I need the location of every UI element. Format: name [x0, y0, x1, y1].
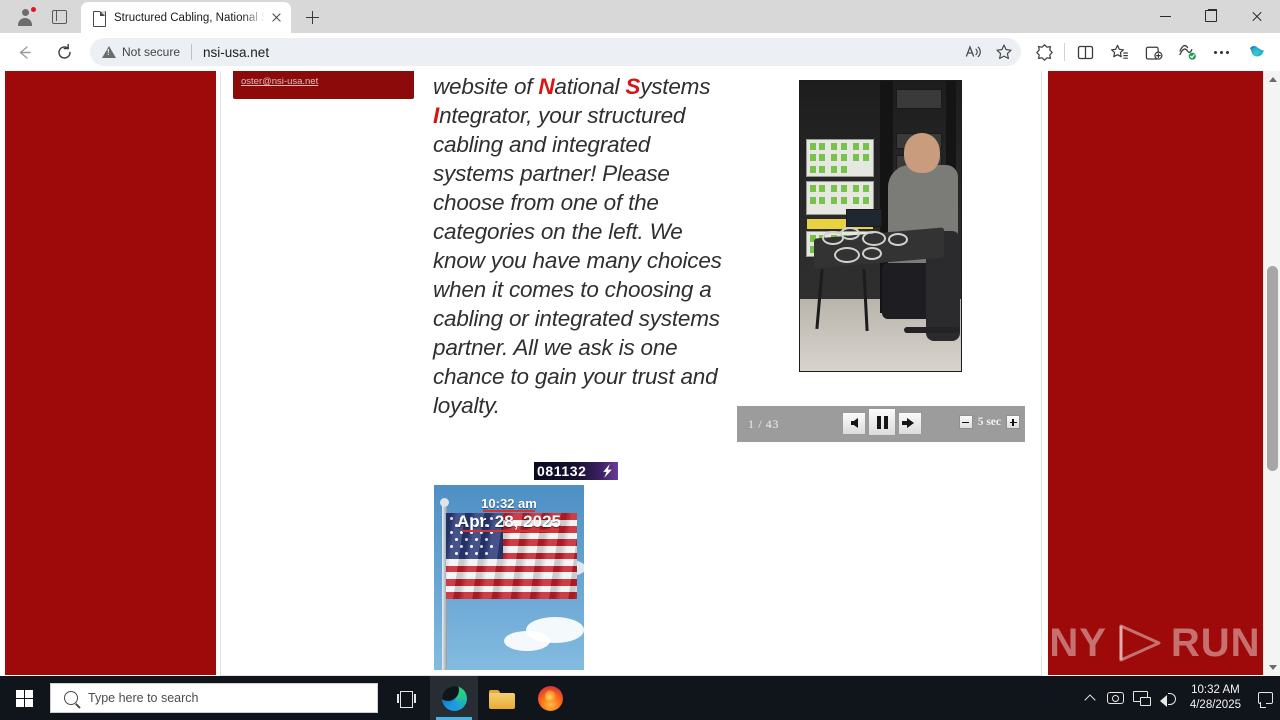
- show-hidden-icons-button[interactable]: [1077, 676, 1103, 720]
- slideshow-speed-control: 5 sec: [959, 415, 1020, 429]
- system-tray: 10:32 AM 4/28/2025: [1077, 676, 1280, 720]
- camera-tray-button[interactable]: [1103, 676, 1129, 720]
- slideshow-prev-button[interactable]: [842, 412, 866, 435]
- network-tray-button[interactable]: [1129, 676, 1155, 720]
- page-favicon-icon: [91, 10, 107, 26]
- scroll-up-button[interactable]: [1264, 71, 1280, 88]
- fiber-coil: [888, 233, 908, 246]
- tab-search-icon: [52, 10, 67, 24]
- arrow-right-icon: [907, 418, 914, 428]
- clock-date: 4/28/2025: [1190, 698, 1241, 713]
- welcome-paragraph: website of National Systems Integrator, …: [433, 72, 733, 420]
- slideshow-next-button[interactable]: [898, 412, 922, 435]
- close-tab-icon[interactable]: [267, 9, 285, 27]
- taskbar-app-edge[interactable]: [430, 676, 478, 720]
- slide-counter: 1 / 43: [748, 417, 779, 432]
- notifications-button[interactable]: [1250, 676, 1280, 720]
- taskbar-app-firefox[interactable]: [526, 676, 574, 720]
- browser-essentials-icon[interactable]: [1027, 36, 1061, 68]
- favorites-icon[interactable]: [1102, 36, 1136, 68]
- edge-drop-icon[interactable]: [1170, 36, 1204, 68]
- chevron-down-icon: [1269, 665, 1277, 670]
- browser-window: Structured Cabling, National Syst: [0, 0, 1280, 676]
- back-button[interactable]: [8, 36, 40, 68]
- task-view-icon: [397, 691, 416, 706]
- chevron-up-icon: [1084, 694, 1095, 705]
- slideshow-pause-button[interactable]: [868, 408, 896, 436]
- start-button[interactable]: [0, 676, 48, 720]
- task-view-button[interactable]: [382, 676, 430, 720]
- welcome-text-run: ystems: [640, 74, 710, 99]
- web-page: oster@nsi-usa.net website of National Sy…: [0, 71, 1263, 676]
- lightning-bolt-icon: [600, 464, 614, 478]
- url-text[interactable]: nsi-usa.net: [203, 45, 269, 60]
- page-viewport: oster@nsi-usa.net website of National Sy…: [0, 71, 1280, 676]
- warning-triangle-icon: [102, 46, 116, 58]
- security-label: Not secure: [122, 45, 180, 59]
- date-underline: [462, 530, 556, 532]
- page-scrollbar[interactable]: [1263, 71, 1280, 676]
- search-icon: [64, 691, 78, 705]
- address-bar[interactable]: Not secure nsi-usa.net: [90, 38, 1021, 66]
- volume-icon: [1160, 691, 1176, 705]
- rack-equipment: [896, 89, 942, 109]
- pause-icon: [877, 416, 888, 429]
- fiber-coil: [840, 227, 860, 240]
- maximize-restore-button[interactable]: [1188, 0, 1234, 32]
- speed-label: 5 sec: [978, 416, 1001, 428]
- window-controls: [1142, 0, 1280, 32]
- email-link[interactable]: oster@nsi-usa.net: [241, 76, 318, 87]
- tab-strip: Structured Cabling, National Syst: [0, 0, 1280, 33]
- favorite-star-icon[interactable]: [989, 38, 1019, 66]
- technician-head: [904, 133, 940, 173]
- hit-counter: 081132: [534, 462, 618, 480]
- windows-taskbar: Type here to search 10:32 AM 4/28/2025: [0, 676, 1280, 720]
- omnibox-divider: [191, 44, 192, 60]
- folder-icon: [489, 688, 515, 709]
- welcome-text-run: ntegrator, your structured cabling and i…: [433, 103, 722, 418]
- search-placeholder: Type here to search: [88, 691, 198, 705]
- collections-icon[interactable]: [1136, 36, 1170, 68]
- omnibox-actions: [959, 38, 1019, 66]
- network-icon: [1133, 691, 1150, 705]
- highlight-initial: N: [538, 74, 554, 99]
- tab-title: Structured Cabling, National Syst: [114, 12, 265, 24]
- overlay-date: Apr. 28, 2025: [434, 512, 584, 532]
- profile-button[interactable]: [8, 3, 42, 31]
- toolbar-divider: [1064, 43, 1065, 61]
- highlight-initial: S: [625, 74, 640, 99]
- taskbar-clock[interactable]: 10:32 AM 4/28/2025: [1181, 676, 1250, 720]
- american-flag-widget: 10:32 am Apr. 28, 2025: [434, 485, 584, 670]
- notification-icon: [1258, 692, 1273, 704]
- taskbar-app-explorer[interactable]: [478, 676, 526, 720]
- new-tab-button[interactable]: [297, 3, 327, 31]
- welcome-text-run: website of: [433, 74, 538, 99]
- speed-decrease-button[interactable]: [959, 415, 973, 429]
- profile-alert-badge: [30, 6, 37, 13]
- edge-icon: [442, 686, 467, 711]
- clock-time: 10:32 AM: [1191, 683, 1240, 698]
- slideshow-buttons: [842, 410, 922, 436]
- speed-increase-button[interactable]: [1006, 415, 1020, 429]
- fiber-coil: [834, 247, 860, 263]
- chevron-up-icon: [1269, 77, 1277, 82]
- fiber-coil: [862, 231, 886, 246]
- ellipsis-icon: [1214, 51, 1229, 54]
- page-content-column: oster@nsi-usa.net website of National Sy…: [220, 71, 1042, 676]
- email-banner: oster@nsi-usa.net: [233, 71, 414, 99]
- toolbar-right-actions: [1027, 33, 1280, 71]
- close-window-button[interactable]: [1234, 0, 1280, 32]
- fusion-splicer: [846, 209, 882, 227]
- settings-more-icon[interactable]: [1204, 36, 1238, 68]
- read-aloud-icon[interactable]: [959, 38, 989, 66]
- site-security-indicator[interactable]: Not secure: [102, 45, 180, 59]
- cloud-shape: [504, 631, 550, 651]
- fiber-coil: [862, 247, 882, 260]
- hit-counter-digits: 081132: [537, 463, 587, 479]
- scroll-down-button[interactable]: [1264, 659, 1280, 676]
- arrow-left-icon: [851, 418, 858, 428]
- tab-search-button[interactable]: [42, 3, 76, 31]
- reload-button[interactable]: [48, 36, 80, 68]
- right-red-panel: [1048, 71, 1263, 675]
- taskbar-search-input[interactable]: Type here to search: [50, 683, 378, 713]
- minimize-button[interactable]: [1142, 0, 1188, 32]
- browser-toolbar: Not secure nsi-usa.net: [0, 33, 1280, 71]
- patch-panel: [806, 139, 874, 177]
- scrollbar-thumb[interactable]: [1267, 266, 1278, 471]
- volume-tray-button[interactable]: [1155, 676, 1181, 720]
- technician-photo: [799, 80, 962, 372]
- split-screen-icon[interactable]: [1068, 36, 1102, 68]
- welcome-text-run: ational: [554, 74, 625, 99]
- camera-icon: [1107, 692, 1124, 704]
- left-red-panel: [5, 71, 216, 675]
- browser-tab[interactable]: Structured Cabling, National Syst: [81, 2, 291, 33]
- windows-logo-icon: [16, 690, 33, 707]
- copilot-icon[interactable]: [1238, 36, 1276, 68]
- firefox-icon: [538, 686, 563, 711]
- overlay-time: 10:32 am: [434, 496, 584, 511]
- slideshow-controls: 1 / 43 5 sec: [737, 406, 1025, 442]
- chair-base: [904, 327, 960, 333]
